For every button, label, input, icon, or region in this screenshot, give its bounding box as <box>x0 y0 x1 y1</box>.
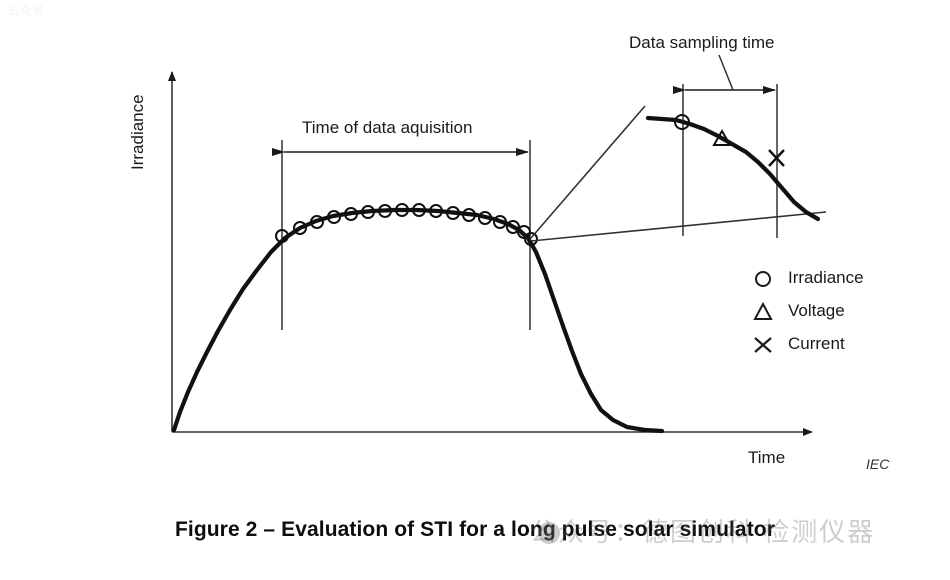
legend-label-current: Current <box>788 334 845 354</box>
cross-marker-icon <box>752 334 774 356</box>
legend-item-irradiance: Irradiance <box>752 268 902 301</box>
legend-item-current: Current <box>752 334 902 367</box>
sampling-leader-line <box>719 55 733 90</box>
acquisition-annotation-label: Time of data aquisition <box>302 118 472 138</box>
triangle-marker-icon <box>752 301 774 323</box>
acquisition-guides <box>282 140 530 330</box>
legend: Irradiance Voltage Current <box>752 268 902 367</box>
callout-line-lower <box>531 212 826 241</box>
legend-item-voltage: Voltage <box>752 301 902 334</box>
sampling-annotation-label: Data sampling time <box>629 33 775 53</box>
figure-container: Irradiance Time Time of data aquisition … <box>0 0 950 580</box>
x-axis-label: Time <box>748 448 785 468</box>
axes-group <box>172 72 812 432</box>
iec-source-mark: IEC <box>866 456 889 472</box>
legend-label-voltage: Voltage <box>788 301 845 321</box>
y-axis-label: Irradiance <box>128 94 148 170</box>
figure-caption: Figure 2 – Evaluation of STI for a long … <box>0 518 950 542</box>
legend-label-irradiance: Irradiance <box>788 268 864 288</box>
circle-marker-icon <box>752 268 774 290</box>
callout-line-upper <box>531 106 645 238</box>
irradiance-pulse-curve <box>174 210 662 431</box>
magnification-callout <box>531 106 826 241</box>
sampling-guides <box>683 55 777 238</box>
inset-magnified-curve <box>648 118 818 219</box>
